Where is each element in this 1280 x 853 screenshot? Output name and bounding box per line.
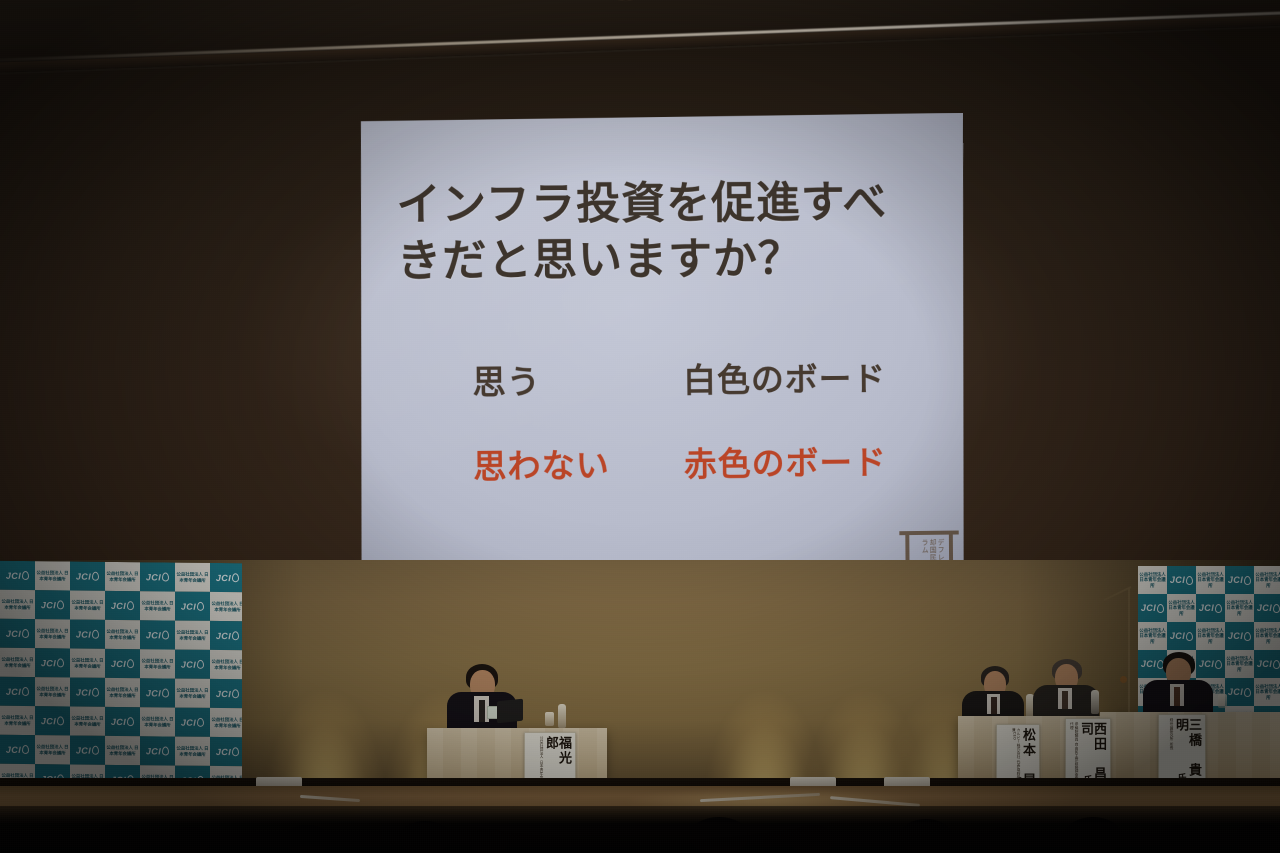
backdrop-org-name: 公益社団法人 日本青年会議所 <box>140 716 175 727</box>
backdrop-tile-org: 公益社団法人 日本青年会議所 <box>70 590 105 619</box>
audience-head <box>285 825 329 853</box>
bottle-left-1 <box>558 704 566 728</box>
backdrop-tile-jci: JCI <box>35 590 70 619</box>
jci-logo-icon: JCI <box>181 601 204 611</box>
backdrop-org-name: 公益社団法人 日本青年会議所 <box>35 744 70 755</box>
audience-head <box>1235 823 1280 853</box>
backdrop-org-name: 公益社団法人 日本青年会議所 <box>1167 600 1196 617</box>
backdrop-tile-jci: JCI <box>105 649 140 678</box>
jci-logo-icon: JCI <box>6 570 29 580</box>
backdrop-org-name: 公益社団法人 日本青年会議所 <box>70 715 105 726</box>
jci-pin-icon <box>1186 576 1193 585</box>
backdrop-org-name: 公益社団法人 日本青年会議所 <box>0 599 35 610</box>
jci-logo-icon: JCI <box>111 658 134 668</box>
backdrop-tile-org: 公益社団法人 日本青年会議所 <box>210 708 242 737</box>
jci-pin-icon <box>57 716 64 725</box>
jci-logo-icon: JCI <box>146 572 169 582</box>
jci-logo-icon: JCI <box>1228 631 1251 641</box>
backdrop-tile-jci: JCI <box>140 736 175 765</box>
jci-pin-icon <box>92 572 99 581</box>
glass-right-2 <box>1218 694 1227 708</box>
backdrop-tile-jci: JCI <box>1167 622 1196 650</box>
backdrop-tile-org: 公益社団法人 日本青年会議所 <box>70 706 105 735</box>
jci-logo-icon: JCI <box>216 572 239 582</box>
option-1-answer: 思わない <box>473 438 684 488</box>
backdrop-tile-jci: JCI <box>0 619 35 648</box>
jci-pin-icon <box>57 600 64 609</box>
backdrop-tile-org: 公益社団法人 日本青年会議所 <box>105 562 140 591</box>
audience-head <box>95 823 141 853</box>
audience-head <box>400 821 450 853</box>
backdrop-tile-jci: JCI <box>1138 594 1167 622</box>
jci-logo-icon: JCI <box>76 687 99 697</box>
screen-surface: インフラ投資を促進すべきだと思いますか？ 思う 白色のボード 思わない 赤色のボ… <box>357 113 967 622</box>
backdrop-tile-org: 公益社団法人 日本青年会議所 <box>210 650 242 679</box>
backdrop-tile-jci: JCI <box>140 678 175 707</box>
backdrop-tile-org: 公益社団法人 日本青年会議所 <box>1167 594 1196 622</box>
backdrop-tile-jci: JCI <box>0 677 35 706</box>
jci-logo-icon: JCI <box>216 630 239 640</box>
jci-pin-icon <box>197 602 204 611</box>
backdrop-tile-org: 公益社団法人 日本青年会議所 <box>1196 622 1225 650</box>
audience-head <box>470 829 508 853</box>
jci-pin-icon <box>1215 660 1222 669</box>
backdrop-tile-jci: JCI <box>1254 594 1280 622</box>
jci-logo-icon: JCI <box>1141 659 1164 669</box>
glass-left-1 <box>545 712 554 726</box>
backdrop-tile-jci: JCI <box>175 592 210 621</box>
option-0-answer: 思う <box>472 354 683 404</box>
jci-logo-icon: JCI <box>41 658 64 668</box>
backdrop-tile-org: 公益社団法人 日本青年会議所 <box>35 619 70 648</box>
backdrop-tile-jci: JCI <box>35 706 70 735</box>
audience-head <box>170 827 210 853</box>
option-0-board: 白色のボード <box>683 352 942 402</box>
backdrop-org-name: 公益社団法人 日本青年会議所 <box>175 746 210 757</box>
backdrop-tile-org: 公益社団法人 日本青年会議所 <box>1196 566 1225 594</box>
backdrop-tile-org: 公益社団法人 日本青年会議所 <box>175 563 210 592</box>
backdrop-tile-org: 公益社団法人 日本青年会議所 <box>1138 622 1167 650</box>
nameplate-mitsuhashi: 三橋 貴明 経世論研究所 所長 氏 <box>1158 714 1206 788</box>
backdrop-org-name: 公益社団法人 日本青年会議所 <box>0 715 35 726</box>
jci-pin-icon <box>57 658 64 667</box>
backdrop-tile-jci: JCI <box>0 561 35 590</box>
jci-logo-icon: JCI <box>1228 575 1251 585</box>
jci-pin-icon <box>22 687 29 696</box>
jci-pin-icon <box>162 746 169 755</box>
backdrop-tile-org: 公益社団法人 日本青年会議所 <box>175 679 210 708</box>
backdrop-tile-org: 公益社団法人 日本青年会議所 <box>1254 622 1280 650</box>
backdrop-tile-org: 公益社団法人 日本青年会議所 <box>1225 650 1254 678</box>
backdrop-org-name: 公益社団法人 日本青年会議所 <box>210 717 242 728</box>
backdrop-tile-jci: JCI <box>210 621 242 650</box>
backdrop-org-name: 公益社団法人 日本青年会議所 <box>0 657 35 668</box>
audience-head <box>1160 825 1202 853</box>
bottle-right-2 <box>1091 690 1099 714</box>
backdrop-tile-jci: JCI <box>1254 650 1280 678</box>
backdrop-org-name: 公益社団法人 日本青年会議所 <box>1225 600 1254 617</box>
jci-pin-icon <box>162 572 169 581</box>
backdrop-org-name: 公益社団法人 日本青年会議所 <box>175 630 210 641</box>
backdrop-org-name: 公益社団法人 日本青年会議所 <box>1254 572 1280 589</box>
jci-logo-icon: JCI <box>76 745 99 755</box>
jci-logo-icon: JCI <box>6 628 29 638</box>
backdrop-tile-jci: JCI <box>105 591 140 620</box>
backdrop-tile-org: 公益社団法人 日本青年会議所 <box>1254 566 1280 594</box>
jci-logo-icon: JCI <box>146 746 169 756</box>
backdrop-tile-org: 公益社団法人 日本青年会議所 <box>1254 678 1280 706</box>
backdrop-org-name: 公益社団法人 日本青年会議所 <box>35 686 70 697</box>
jci-logo-icon: JCI <box>216 688 239 698</box>
jci-logo-icon: JCI <box>41 716 64 726</box>
backdrop-org-name: 公益社団法人 日本青年会議所 <box>175 688 210 699</box>
jci-pin-icon <box>1273 660 1280 669</box>
backdrop-org-name: 公益社団法人 日本青年会議所 <box>35 570 70 581</box>
backdrop-tile-org: 公益社団法人 日本青年会議所 <box>0 706 35 735</box>
jci-pin-icon <box>232 631 239 640</box>
jci-pin-icon <box>1215 604 1222 613</box>
jci-pin-icon <box>22 629 29 638</box>
jci-logo-icon: JCI <box>1141 603 1164 613</box>
jci-pin-icon <box>197 718 204 727</box>
backdrop-tile-org: 公益社団法人 日本青年会議所 <box>70 648 105 677</box>
option-1-board: 赤色のボード <box>684 435 943 486</box>
slide-options: 思う 白色のボード 思わない 赤色のボード <box>472 352 942 488</box>
matsumoto-tie <box>991 697 997 714</box>
backdrop-tile-org: 公益社団法人 日本青年会議所 <box>175 621 210 650</box>
backdrop-tile-jci: JCI <box>1196 650 1225 678</box>
jci-pin-icon <box>127 717 134 726</box>
backdrop-org-name: 公益社団法人 日本青年会議所 <box>70 599 105 610</box>
backdrop-tile-org: 公益社団法人 日本青年会議所 <box>210 592 242 621</box>
backdrop-tile-jci: JCI <box>1225 566 1254 594</box>
backdrop-org-name: 公益社団法人 日本青年会議所 <box>210 659 242 670</box>
jci-logo-icon: JCI <box>111 600 134 610</box>
jci-pin-icon <box>162 688 169 697</box>
jci-pin-icon <box>22 571 29 580</box>
backdrop-org-name: 公益社団法人 日本青年会議所 <box>105 571 140 582</box>
backdrop-tile-jci: JCI <box>210 737 242 766</box>
backdrop-tile-org: 公益社団法人 日本青年会議所 <box>35 735 70 764</box>
backdrop-tile-org: 公益社団法人 日本青年会議所 <box>140 591 175 620</box>
jci-logo-icon: JCI <box>6 744 29 754</box>
backdrop-tile-jci: JCI <box>70 677 105 706</box>
jci-pin-icon <box>1244 576 1251 585</box>
jci-logo-icon: JCI <box>1257 659 1280 669</box>
backdrop-tile-jci: JCI <box>70 619 105 648</box>
backdrop-tile-org: 公益社団法人 日本青年会議所 <box>35 561 70 590</box>
jci-pin-icon <box>232 689 239 698</box>
jci-pin-icon <box>1157 604 1164 613</box>
backdrop-tile-jci: JCI <box>140 620 175 649</box>
backdrop-tile-jci: JCI <box>1167 566 1196 594</box>
backdrop-tile-jci: JCI <box>0 735 35 764</box>
jci-pin-icon <box>127 601 134 610</box>
backdrop-tile-jci: JCI <box>70 735 105 764</box>
backdrop-org-name: 公益社団法人 日本青年会議所 <box>105 629 140 640</box>
jci-pin-icon <box>232 747 239 756</box>
jci-logo-icon: JCI <box>1199 603 1222 613</box>
jci-logo-icon: JCI <box>76 571 99 581</box>
jci-logo-icon: JCI <box>181 659 204 669</box>
jci-pin-icon <box>232 573 239 582</box>
backdrop-org-name: 公益社団法人 日本青年会議所 <box>175 572 210 583</box>
audience-row <box>0 806 1280 853</box>
jci-logo-icon: JCI <box>1170 631 1193 641</box>
jci-logo-icon: JCI <box>1228 687 1251 697</box>
backdrop-tile-org: 公益社団法人 日本青年会議所 <box>175 737 210 766</box>
backdrop-org-name: 公益社団法人 日本青年会議所 <box>1138 572 1167 589</box>
backdrop-tile-jci: JCI <box>105 707 140 736</box>
conference-photo: CONFERENCE 2017 JCI インフラ投資を促進すべきだと思いますか？… <box>0 0 1280 853</box>
backdrop-tile-jci: JCI <box>175 650 210 679</box>
backdrop-tile-org: 公益社団法人 日本青年会議所 <box>0 648 35 677</box>
slide-title: インフラ投資を促進すべきだと思いますか？ <box>396 175 927 291</box>
jci-logo-icon: JCI <box>41 600 64 610</box>
jci-logo-icon: JCI <box>146 688 169 698</box>
moderator-tie <box>479 700 485 722</box>
audience-head <box>900 819 952 853</box>
jci-pin-icon <box>1244 632 1251 641</box>
backdrop-org-name: 公益社団法人 日本青年会議所 <box>210 601 242 612</box>
jci-pin-icon <box>197 660 204 669</box>
jci-logo-icon: JCI <box>76 629 99 639</box>
moderator-laptop <box>497 699 523 724</box>
audience-head <box>790 825 834 853</box>
jci-pin-icon <box>1186 632 1193 641</box>
backdrop-tile-org: 公益社団法人 日本青年会議所 <box>105 678 140 707</box>
backdrop-tile-jci: JCI <box>1225 678 1254 706</box>
jci-pin-icon <box>22 745 29 754</box>
audience-head <box>690 817 748 853</box>
backdrop-org-name: 公益社団法人 日本青年会議所 <box>1138 628 1167 645</box>
backdrop-tile-org: 公益社団法人 日本青年会議所 <box>0 590 35 619</box>
audience-head <box>985 827 1025 853</box>
backdrop-tile-jci: JCI <box>70 561 105 590</box>
backdrop-tile-org: 公益社団法人 日本青年会議所 <box>140 649 175 678</box>
backdrop-org-name: 公益社団法人 日本青年会議所 <box>140 600 175 611</box>
nishida-tie <box>1062 691 1068 709</box>
backdrop-tile-jci: JCI <box>175 708 210 737</box>
backdrop-org-name: 公益社団法人 日本青年会議所 <box>1196 628 1225 645</box>
backdrop-org-name: 公益社団法人 日本青年会議所 <box>1254 684 1280 701</box>
backdrop-tile-org: 公益社団法人 日本青年会議所 <box>140 707 175 736</box>
backdrop-tile-org: 公益社団法人 日本青年会議所 <box>105 620 140 649</box>
backdrop-tile-jci: JCI <box>210 563 242 592</box>
backdrop-org-name: 公益社団法人 日本青年会議所 <box>140 658 175 669</box>
jci-pin-icon <box>127 659 134 668</box>
projection-screen: インフラ投資を促進すべきだと思いますか？ 思う 白色のボード 思わない 赤色のボ… <box>357 113 967 622</box>
backdrop-tile-org: 公益社団法人 日本青年会議所 <box>1138 566 1167 594</box>
backdrop-tile-jci: JCI <box>140 562 175 591</box>
jci-pin-icon <box>1273 604 1280 613</box>
jci-logo-icon: JCI <box>181 717 204 727</box>
jci-logo-icon: JCI <box>216 746 239 756</box>
backdrop-tile-org: 公益社団法人 日本青年会議所 <box>105 736 140 765</box>
mitsuhashi-tie <box>1174 687 1180 706</box>
backdrop-tile-jci: JCI <box>35 648 70 677</box>
mic-stand-knob <box>1120 676 1127 683</box>
jci-pin-icon <box>92 688 99 697</box>
backdrop-org-name: 公益社団法人 日本青年会議所 <box>1196 572 1225 589</box>
backdrop-org-name: 公益社団法人 日本青年会議所 <box>1254 628 1280 645</box>
jci-logo-icon: JCI <box>146 630 169 640</box>
jci-logo-icon: JCI <box>111 716 134 726</box>
jci-logo-icon: JCI <box>1170 575 1193 585</box>
backdrop-org-name: 公益社団法人 日本青年会議所 <box>105 745 140 756</box>
backdrop-tile-org: 公益社団法人 日本青年会議所 <box>35 677 70 706</box>
jci-pin-icon <box>1244 688 1251 697</box>
audience-head <box>1065 817 1121 853</box>
jci-pin-icon <box>162 630 169 639</box>
backdrop-tile-org: 公益社団法人 日本青年会議所 <box>1225 594 1254 622</box>
backdrop-org-name: 公益社団法人 日本青年会議所 <box>105 687 140 698</box>
jci-pin-icon <box>92 630 99 639</box>
backdrop-tile-jci: JCI <box>1225 622 1254 650</box>
jci-logo-icon: JCI <box>1199 659 1222 669</box>
jci-logo-icon: JCI <box>6 686 29 696</box>
jci-pin-icon <box>92 746 99 755</box>
jci-logo-icon: JCI <box>1257 603 1280 613</box>
backdrop-tile-jci: JCI <box>1196 594 1225 622</box>
backdrop-tile-jci: JCI <box>210 679 242 708</box>
backdrop-org-name: 公益社団法人 日本青年会議所 <box>35 628 70 639</box>
backdrop-org-name: 公益社団法人 日本青年会議所 <box>1225 656 1254 673</box>
backdrop-org-name: 公益社団法人 日本青年会議所 <box>70 657 105 668</box>
